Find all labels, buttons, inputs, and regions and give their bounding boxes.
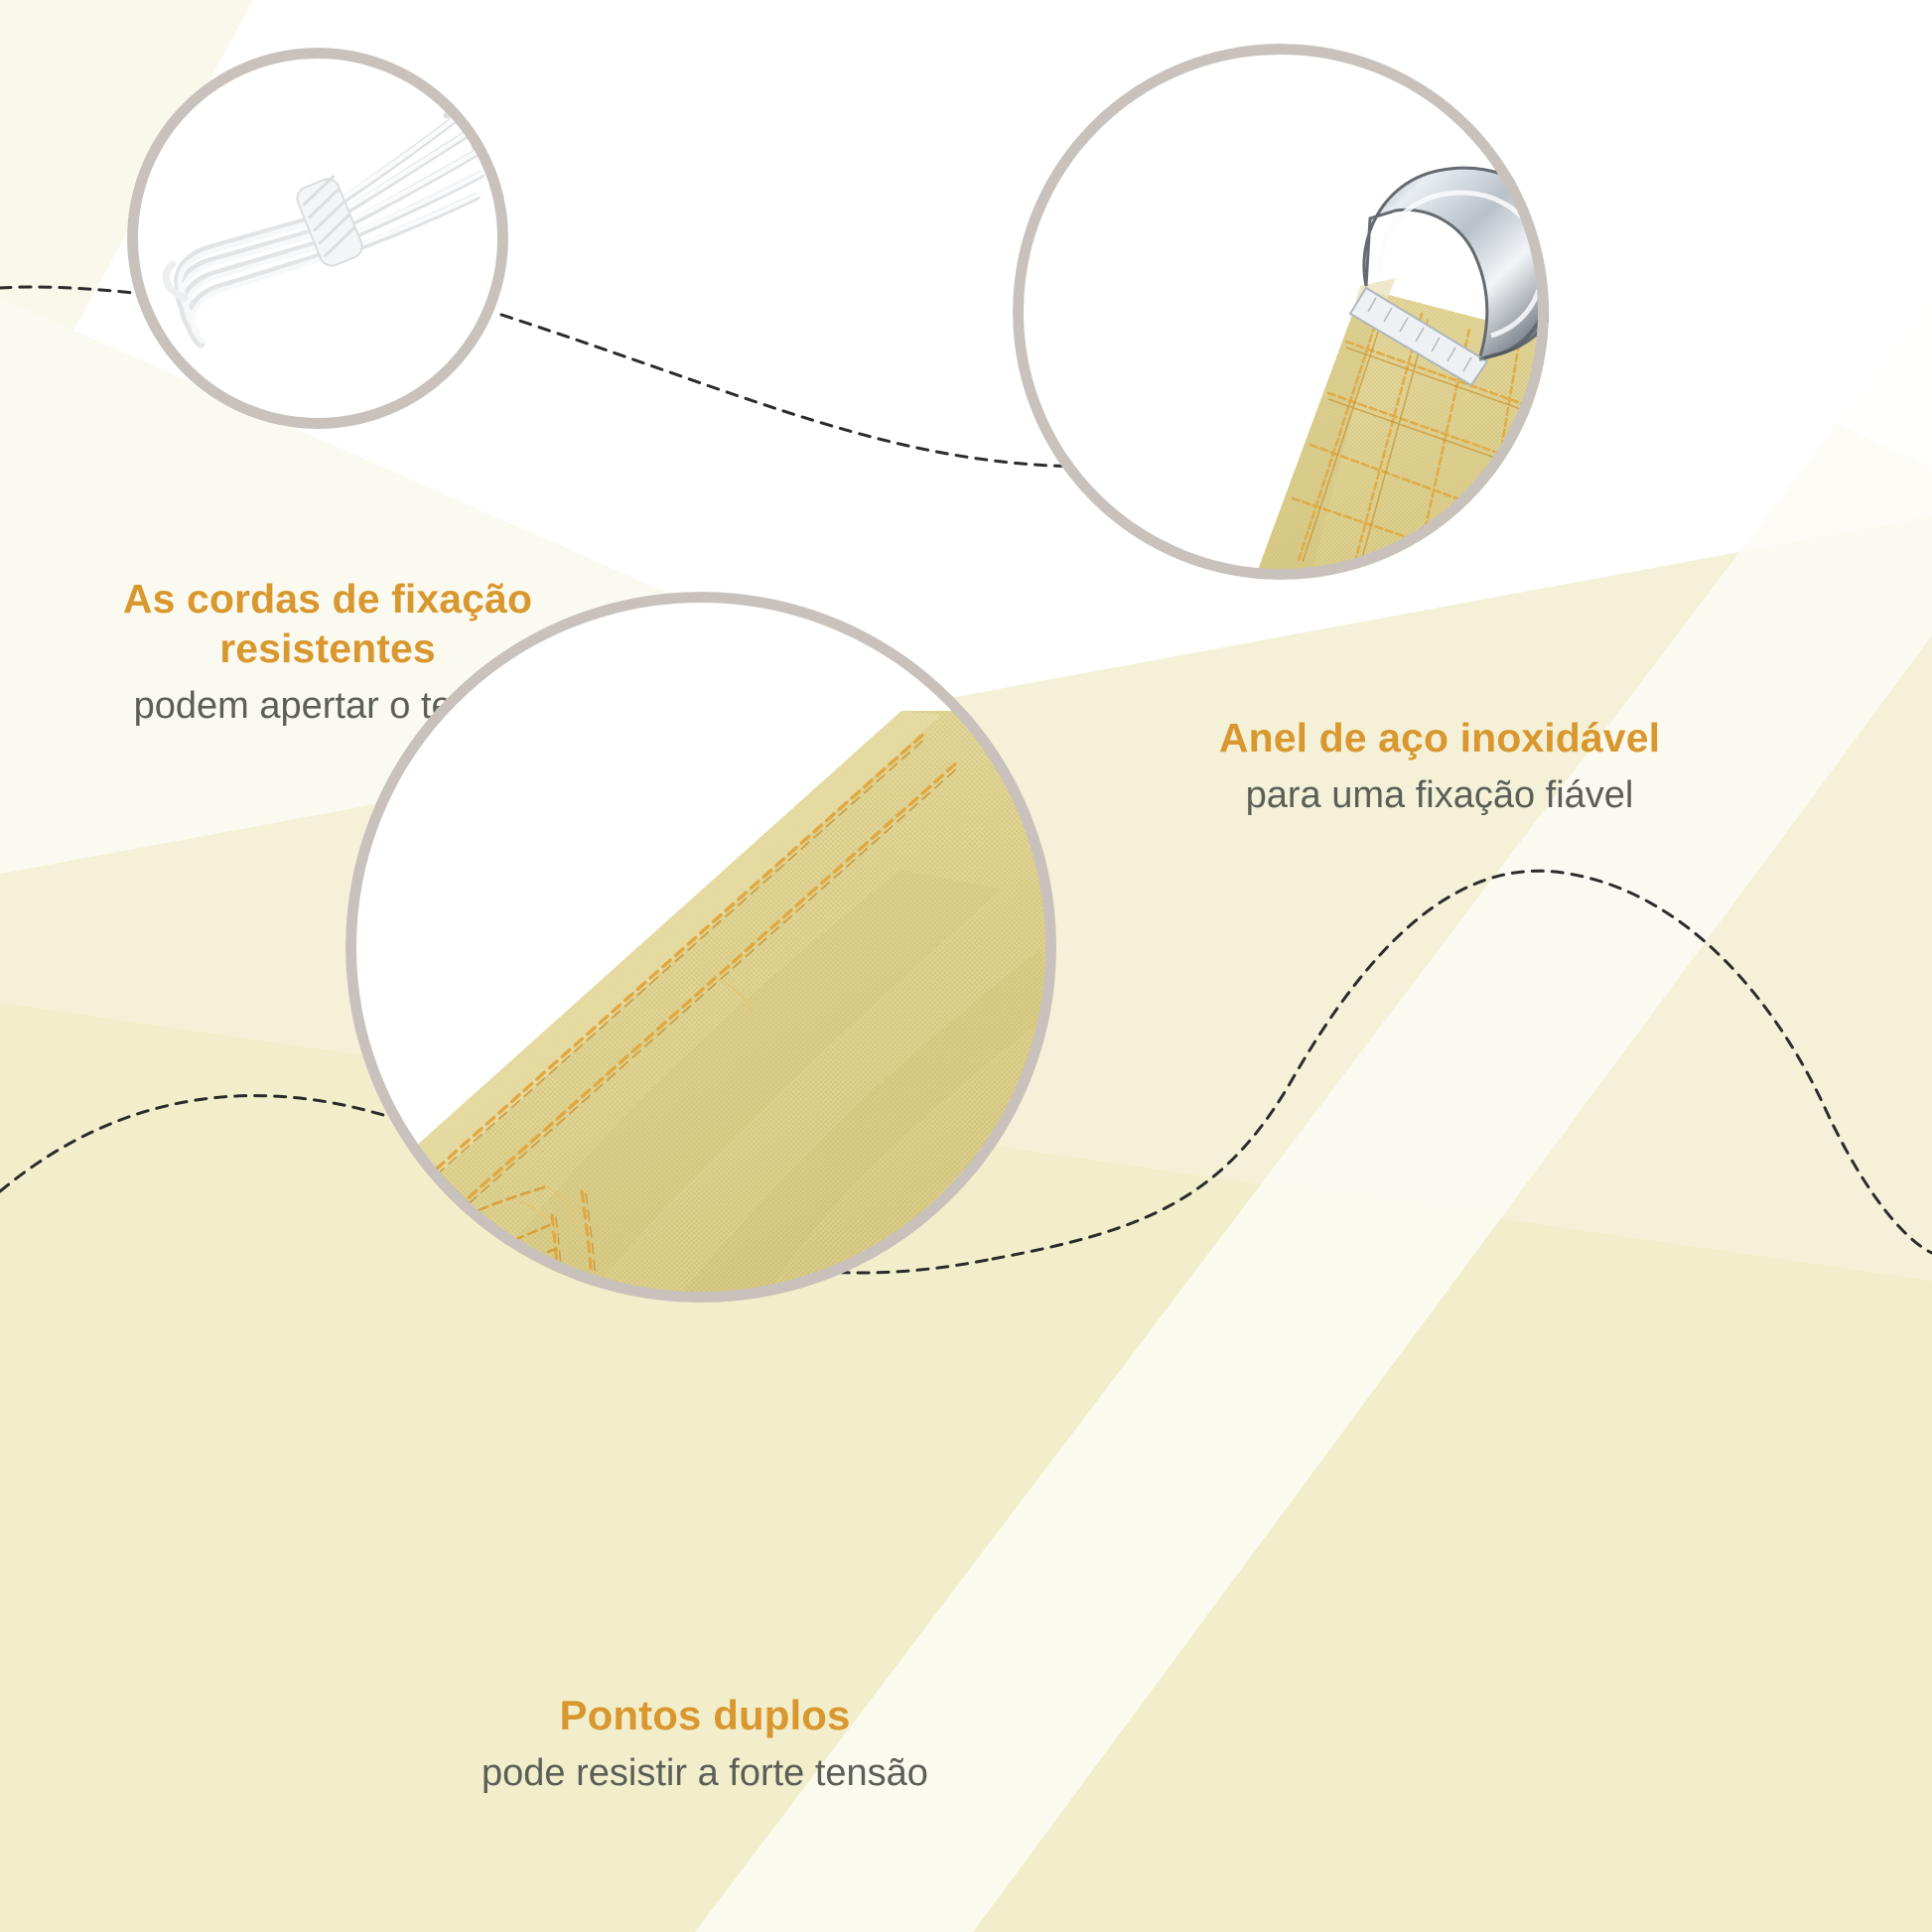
- infographic-canvas: As cordas de fixação resistentes podem a…: [0, 0, 1932, 1932]
- callout-circle-double-stitch: [345, 592, 1056, 1303]
- caption-d-ring: Anel de aço inoxidável para uma fixação …: [993, 713, 1886, 820]
- caption-double-stitch: Pontos duplos pode resistir a forte tens…: [328, 1690, 1082, 1799]
- caption-subtitle-double-stitch: pode resistir a forte tensão: [328, 1749, 1082, 1798]
- double-stitched-fabric-hem: [345, 592, 1056, 1303]
- caption-title-double-stitch: Pontos duplos: [328, 1690, 1082, 1740]
- caption-title-d-ring: Anel de aço inoxidável: [993, 713, 1886, 762]
- callout-circle-rope: [127, 48, 508, 429]
- callout-circle-d-ring: [1013, 44, 1549, 580]
- stainless-steel-d-ring-on-fabric-corner: [1013, 44, 1549, 580]
- coiled-white-rope-bundle: [127, 48, 508, 429]
- caption-subtitle-d-ring: para uma fixação fiável: [993, 771, 1886, 820]
